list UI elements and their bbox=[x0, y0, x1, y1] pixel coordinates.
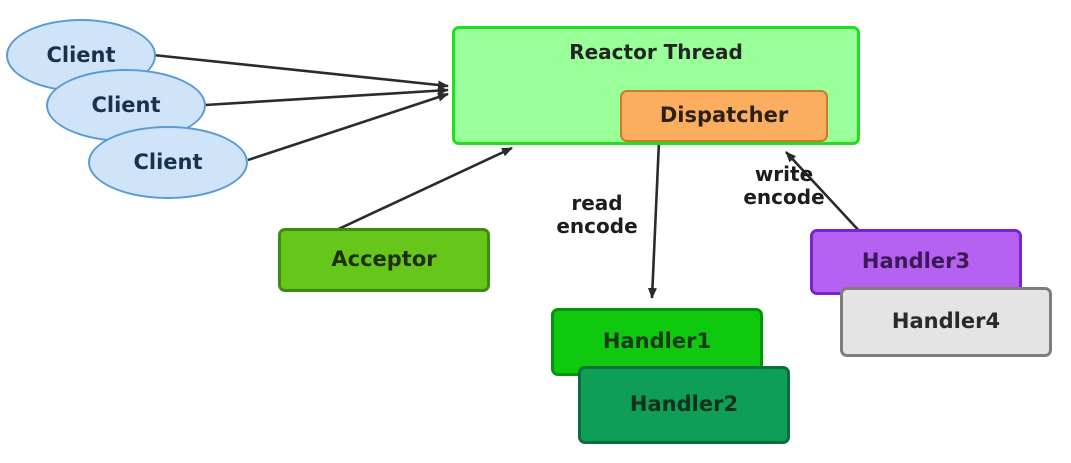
node-dispatcher-label: Dispatcher bbox=[660, 104, 788, 127]
node-handler2[interactable]: Handler2 bbox=[578, 366, 790, 444]
node-acceptor[interactable]: Acceptor bbox=[278, 228, 490, 292]
node-handler4-label: Handler4 bbox=[892, 310, 1000, 333]
node-dispatcher[interactable]: Dispatcher bbox=[620, 90, 828, 142]
node-client-3[interactable]: Client bbox=[88, 126, 248, 199]
node-handler2-label: Handler2 bbox=[630, 393, 738, 416]
node-client-2-label: Client bbox=[91, 94, 160, 117]
node-handler3-label: Handler3 bbox=[862, 250, 970, 273]
edge-client1-reactor bbox=[153, 55, 448, 86]
edge-label-read-encode: read encode bbox=[549, 192, 645, 238]
node-client-1-label: Client bbox=[46, 44, 115, 67]
node-reactor-thread-label: Reactor Thread bbox=[569, 41, 743, 63]
node-client-3-label: Client bbox=[133, 151, 202, 174]
edge-dispatcher-handler1 bbox=[652, 141, 659, 298]
node-handler4[interactable]: Handler4 bbox=[840, 287, 1052, 357]
edge-acceptor-reactor bbox=[330, 148, 512, 233]
edge-client2-reactor bbox=[205, 90, 448, 105]
edge-label-write-encode: write encode bbox=[726, 163, 842, 209]
edge-client3-reactor bbox=[248, 94, 448, 160]
node-handler1-label: Handler1 bbox=[603, 330, 711, 353]
node-handler3[interactable]: Handler3 bbox=[810, 229, 1022, 295]
node-acceptor-label: Acceptor bbox=[331, 248, 436, 271]
diagram-canvas: Client Client Client Reactor Thread Disp… bbox=[0, 0, 1071, 463]
